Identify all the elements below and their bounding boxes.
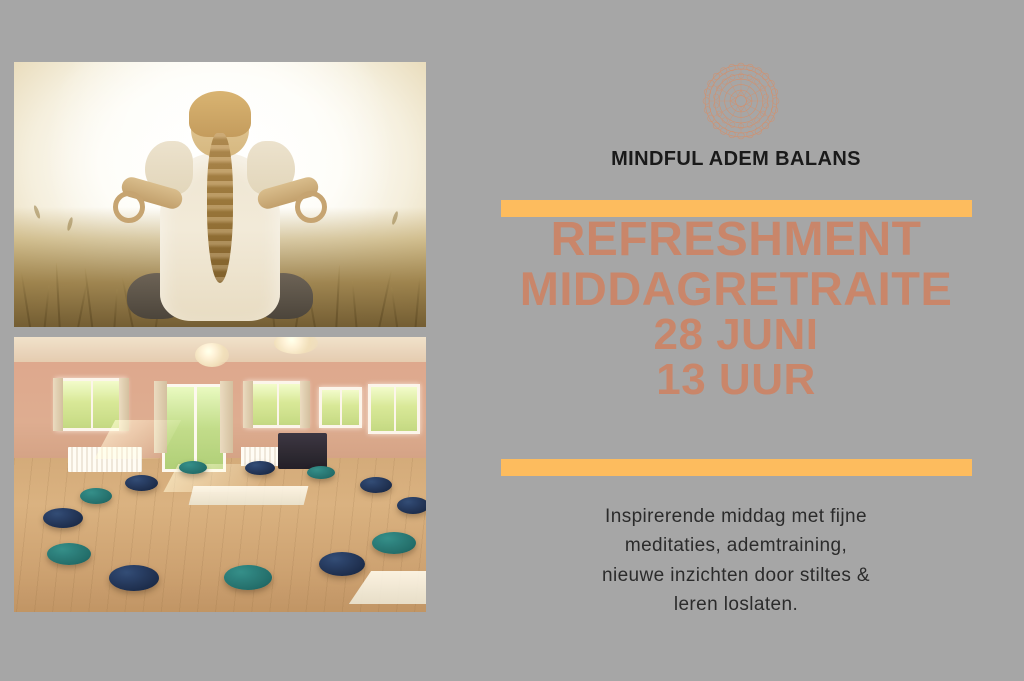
- yoga-mat: [189, 486, 309, 505]
- meditation-cushion: [307, 466, 335, 479]
- braid: [207, 133, 233, 283]
- body-line-4: leren loslaten.: [530, 590, 942, 619]
- meditation-cushion: [319, 552, 365, 576]
- hair: [189, 91, 251, 137]
- studio-photo-scene: [14, 337, 426, 612]
- meditation-cushion: [245, 461, 275, 475]
- studio-photo: [14, 337, 426, 612]
- curtain: [53, 378, 63, 430]
- window: [319, 387, 362, 429]
- window: [245, 381, 309, 428]
- headline-line-3: 28 JUNI: [490, 313, 982, 358]
- poster-canvas: MINDFUL ADEM BALANS REFRESHMENT MIDDAGRE…: [0, 0, 1024, 681]
- headline-block: REFRESHMENT MIDDAGRETRAITE 28 JUNI 13 UU…: [490, 216, 982, 403]
- window: [368, 384, 419, 434]
- body-line-2: meditaties, ademtraining,: [530, 531, 942, 560]
- body-line-3: nieuwe inzichten door stiltes &: [530, 561, 942, 590]
- curtain: [300, 381, 310, 428]
- right-hand-mudra: [295, 191, 327, 223]
- brand-name: MINDFUL ADEM BALANS: [490, 148, 982, 171]
- body-line-1: Inspirerende middag met fijne: [530, 502, 942, 531]
- meditation-cushion: [397, 497, 426, 514]
- left-hand-mudra: [113, 191, 145, 223]
- headline-line-1: REFRESHMENT: [490, 216, 982, 265]
- meditation-cushion: [109, 565, 159, 591]
- chandelier-icon: [274, 337, 318, 354]
- headline-line-4: 13 UUR: [490, 358, 982, 403]
- mandala-icon: [702, 61, 780, 141]
- meditation-cushion: [179, 461, 207, 474]
- meditating-figure: [115, 95, 325, 325]
- meditation-cushion: [43, 508, 83, 528]
- meditation-cushion: [125, 475, 158, 491]
- equipment-cabinet: [278, 433, 327, 469]
- body-copy: Inspirerende middag met fijne meditaties…: [530, 502, 942, 620]
- accent-bar-bottom: [501, 459, 972, 476]
- curtain: [243, 381, 253, 428]
- chandelier-icon: [195, 343, 229, 367]
- headline-line-2: MIDDAGRETRAITE: [490, 265, 982, 313]
- meditation-photo: [14, 62, 426, 327]
- meditation-photo-scene: [14, 62, 426, 327]
- curtain: [220, 381, 233, 453]
